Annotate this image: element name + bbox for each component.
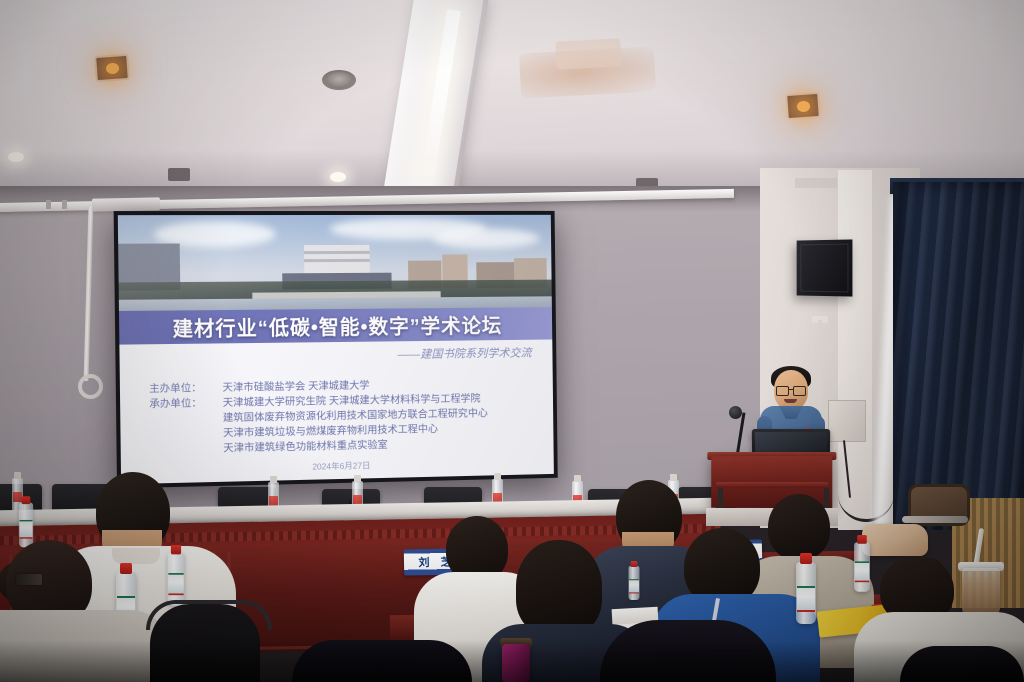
presenter-smile — [784, 399, 797, 403]
window-curtain[interactable] — [893, 182, 1024, 530]
ceiling-led-light — [330, 172, 346, 182]
speaker-mount-bracket — [795, 178, 837, 188]
handbag[interactable] — [862, 524, 928, 556]
projector-screen-housing — [92, 197, 160, 211]
audience-member — [0, 540, 170, 682]
water-bottle[interactable] — [168, 553, 185, 606]
slide-body: ——建国书院系列学术交流 主办单位： 天津市硅酸盐学会 天津城建大学 承办单位：… — [119, 339, 553, 484]
slide-banner-photo — [118, 215, 552, 318]
rail-hook — [46, 200, 51, 209]
halogen-downlight-icon — [785, 92, 821, 120]
wall-speaker — [797, 239, 853, 296]
podium-shelf — [716, 482, 828, 488]
water-bottle[interactable] — [796, 562, 816, 624]
slide-title-band: 建材行业“低碳•智能•数字”学术论坛 — [119, 307, 552, 345]
slide-title: 建材行业“低碳•智能•数字”学术论坛 — [172, 309, 502, 341]
chair-armrest — [902, 516, 968, 523]
conference-room-photo: 建材行业“低碳•智能•数字”学术论坛 ——建国书院系列学术交流 主办单位： 天津… — [0, 0, 1024, 682]
ceiling-water-stain-inner — [555, 38, 621, 69]
halogen-downlight-icon — [94, 54, 130, 82]
wall-control-box[interactable] — [828, 400, 866, 442]
slide-organizers: 主办单位： 天津市硅酸盐学会 天津城建大学 承办单位： 天津城建大学研究生院 天… — [149, 378, 488, 459]
audience-member — [600, 620, 776, 682]
ceiling-led-light — [8, 152, 24, 162]
screen-pull-hook-icon[interactable] — [78, 374, 103, 399]
rail-hook — [62, 200, 67, 209]
organizer-label: 主办单位： — [149, 382, 223, 398]
smoke-detector-icon — [168, 168, 190, 181]
audience-member — [292, 640, 472, 682]
projected-slide: 建材行业“低碳•智能•数字”学术论坛 ——建国书院系列学术交流 主办单位： 天津… — [118, 215, 554, 484]
ceiling-vent-icon — [322, 70, 356, 90]
microphone-head-icon[interactable] — [729, 406, 742, 419]
purple-thermos[interactable] — [502, 644, 530, 682]
torso — [0, 610, 170, 682]
eyeglasses-icon — [776, 386, 806, 394]
wall-pillar — [838, 170, 872, 530]
chair-rim — [146, 600, 272, 630]
audience-member — [900, 646, 1024, 682]
organizer-label: 承办单位： — [149, 397, 223, 413]
head — [516, 540, 602, 636]
projector-screen: 建材行业“低碳•智能•数字”学术论坛 ——建国书院系列学术交流 主办单位： 天津… — [114, 211, 558, 489]
slide-subtitle: ——建国书院系列学术交流 — [397, 345, 531, 363]
cloud — [433, 229, 540, 249]
hair-clip — [16, 574, 42, 585]
